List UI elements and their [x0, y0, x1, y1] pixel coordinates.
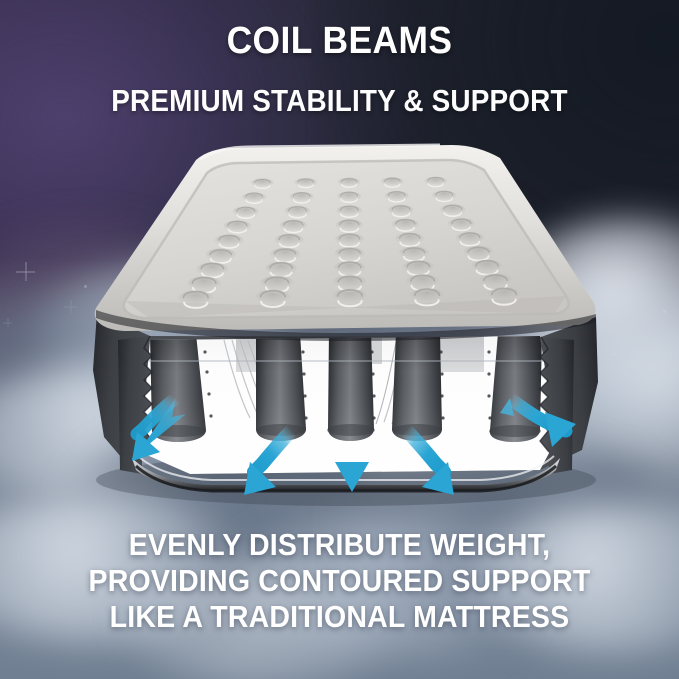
- dimple: [265, 262, 297, 276]
- footer-line-1: EVENLY DISTRIBUTE WEIGHT,: [27, 527, 652, 563]
- page-title: COIL BEAMS: [24, 22, 655, 60]
- coil-beam: [392, 333, 442, 441]
- coil-beam: [489, 333, 542, 442]
- footer-line-3: LIKE A TRADITIONAL MATTRESS: [27, 599, 652, 635]
- footer-copy-block: EVENLY DISTRIBUTE WEIGHT, PROVIDING CONT…: [0, 527, 679, 635]
- dimple: [233, 206, 259, 217]
- coil-beam: [256, 333, 306, 441]
- infographic-canvas: COIL BEAMS PREMIUM STABILITY & SUPPORT: [0, 0, 679, 679]
- mattress-top-surface: [95, 145, 596, 331]
- headline-block: COIL BEAMS: [0, 22, 679, 60]
- footer-line-2: PROVIDING CONTOURED SUPPORT: [27, 563, 652, 599]
- page-subtitle: PREMIUM STABILITY & SUPPORT: [34, 85, 645, 116]
